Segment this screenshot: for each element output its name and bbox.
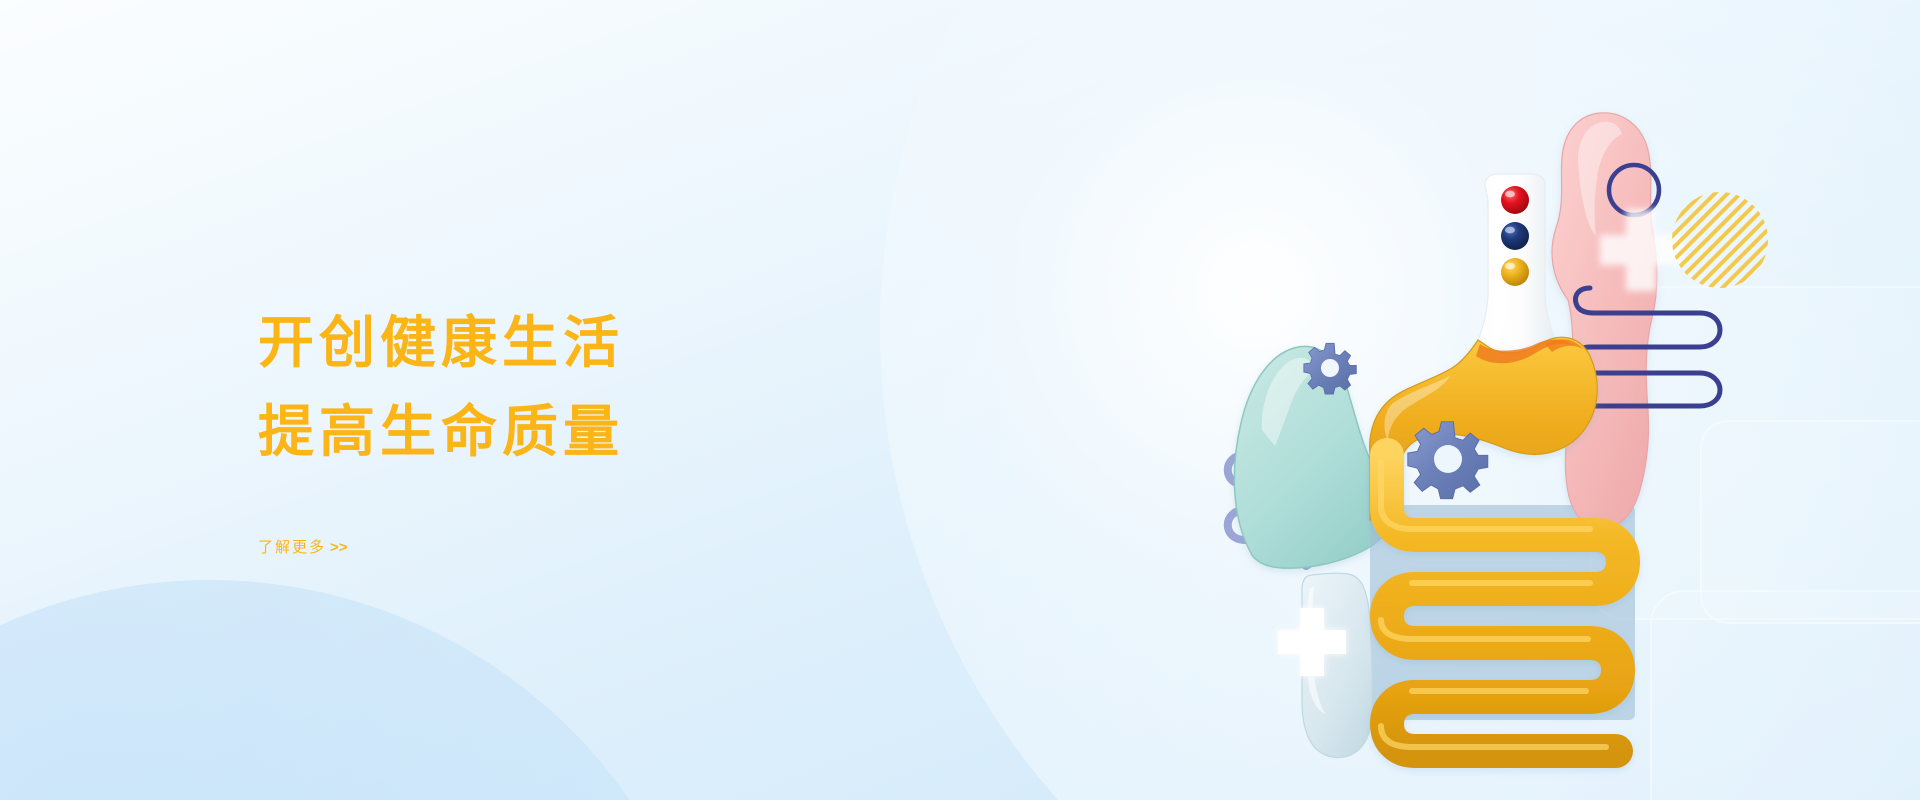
striped-circle [1672,192,1768,288]
digestive-system-illustration [900,0,1920,800]
background-circle-bottom-left [0,580,720,800]
learn-more-link[interactable]: 了解更多>> [258,536,348,557]
bead-red [1501,186,1529,214]
hero-banner: 开创健康生活 提高生命质量 了解更多>> [0,0,1920,800]
hero-copy-block: 开创健康生活 提高生命质量 了解更多>> [258,300,878,557]
learn-more-arrows-icon: >> [330,539,348,556]
bead-yellow [1501,258,1529,286]
bead-navy [1501,222,1529,250]
tube-beads [1501,186,1529,286]
headline-line-1: 开创健康生活 [258,300,878,385]
headline-line-2: 提高生命质量 [258,389,878,474]
learn-more-label: 了解更多 [258,539,326,556]
